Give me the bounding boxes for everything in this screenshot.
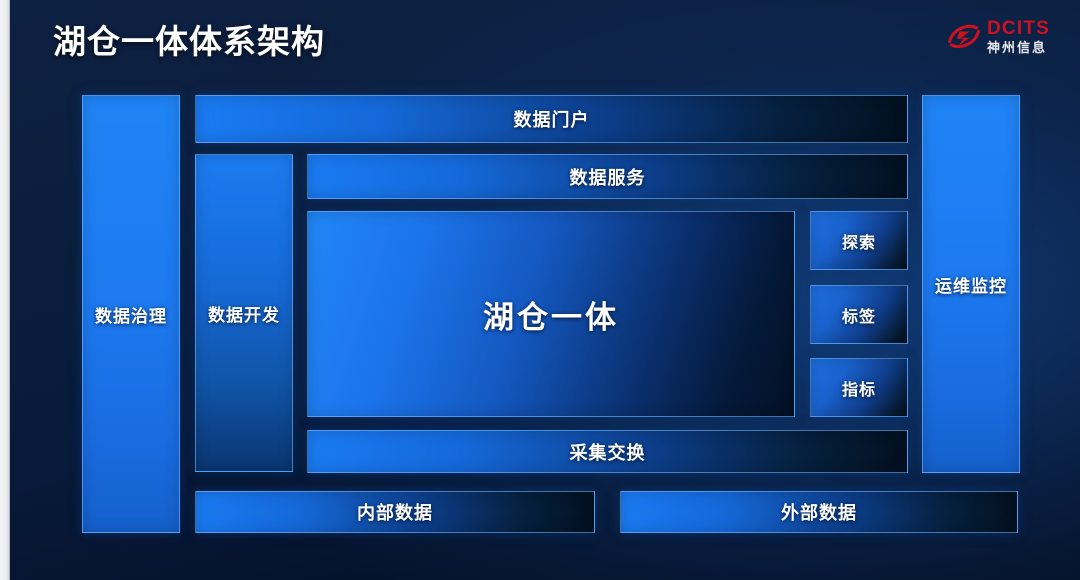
dcits-logo-mark-icon [946, 18, 982, 54]
block-exploration[interactable]: 探索 [810, 211, 908, 270]
block-label-lakehouse-core: 湖仓一体 [483, 292, 619, 337]
block-label-data-service: 数据服务 [570, 164, 646, 190]
block-label-internal-data: 内部数据 [357, 499, 433, 525]
block-label-exploration: 探索 [842, 229, 876, 253]
block-external-data[interactable]: 外部数据 [620, 491, 1018, 533]
slide-canvas: 湖仓一体体系架构 DCITS 神州信息 数据治理 数据开发 数据门户 数据服务 [0, 0, 1080, 580]
block-label-collection-exchange: 采集交换 [570, 439, 646, 465]
block-label-external-data: 外部数据 [781, 499, 857, 525]
page-title: 湖仓一体体系架构 [53, 15, 325, 63]
block-label-data-development: 数据开发 [208, 301, 280, 326]
block-metrics[interactable]: 指标 [810, 358, 908, 417]
block-data-development[interactable]: 数据开发 [195, 154, 293, 472]
dcits-logo: DCITS 神州信息 [946, 12, 1062, 60]
dcits-logo-text: DCITS 神州信息 [987, 19, 1050, 54]
block-internal-data[interactable]: 内部数据 [195, 491, 595, 533]
block-data-service[interactable]: 数据服务 [307, 154, 908, 199]
block-label-data-portal: 数据门户 [514, 106, 590, 132]
logo-english-label: DCITS [987, 19, 1050, 38]
block-tagging[interactable]: 标签 [810, 285, 908, 344]
block-data-portal[interactable]: 数据门户 [195, 95, 908, 143]
left-edge-strip [0, 0, 10, 580]
block-label-tagging: 标签 [842, 303, 876, 327]
block-label-ops-monitoring: 运维监控 [935, 272, 1007, 297]
block-label-metrics: 指标 [842, 376, 876, 400]
block-collection-exchange[interactable]: 采集交换 [307, 430, 908, 473]
logo-chinese-label: 神州信息 [987, 41, 1050, 54]
block-data-governance[interactable]: 数据治理 [82, 95, 180, 533]
block-lakehouse-core[interactable]: 湖仓一体 [307, 211, 795, 417]
block-label-data-governance: 数据治理 [95, 302, 167, 327]
block-ops-monitoring[interactable]: 运维监控 [922, 95, 1020, 473]
